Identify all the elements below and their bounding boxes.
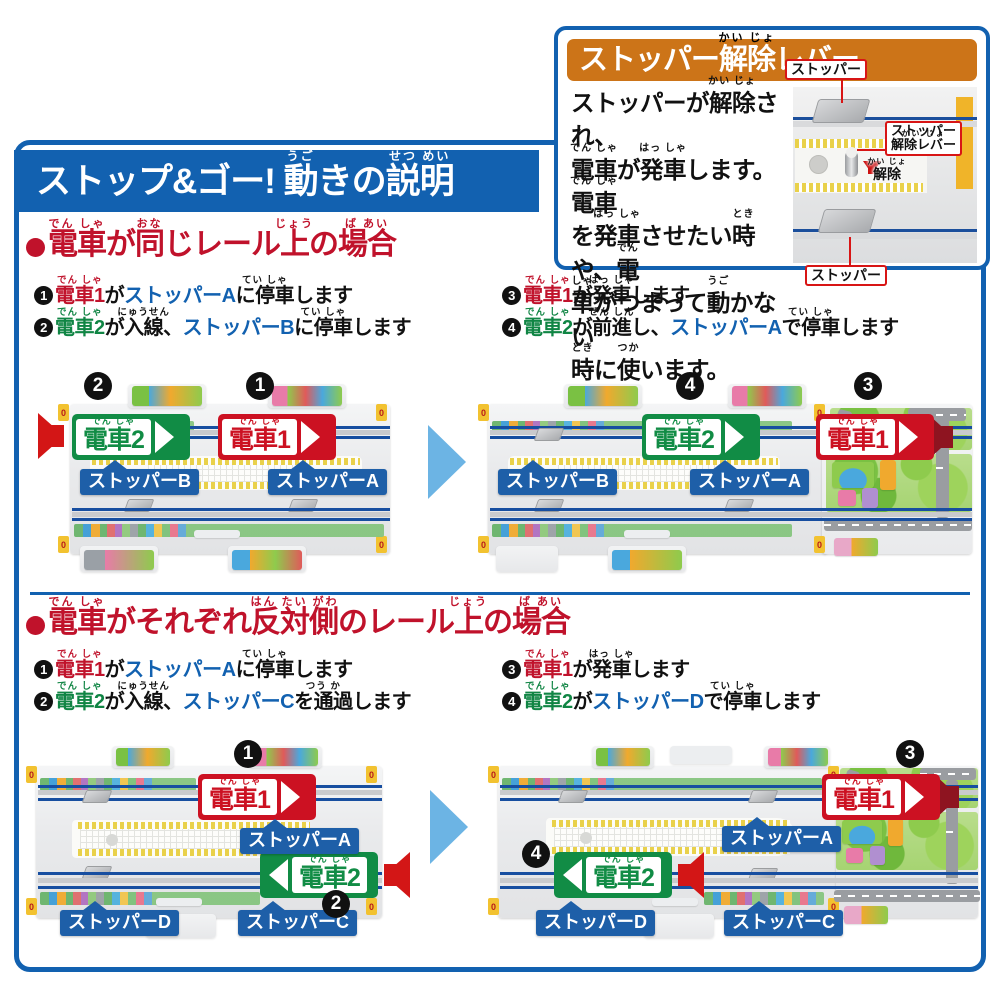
- title-part-stopgo: ストップ&ゴー!: [36, 162, 284, 201]
- train-2-badge: でん しゃ電車2: [260, 852, 378, 898]
- section-1-steps-left: 1でん しゃ電車1がストッパーAてい しゃに停車します 2でん しゃ電車2がにゅ…: [34, 286, 411, 350]
- scenery-card-top-2: [732, 386, 802, 406]
- callout-line-3: をはっ しゃ発車させたいとき時や、でん電: [571, 220, 789, 287]
- board-2-left: 0 0 0 0 1 2 でん しゃ電車1 でん しゃ電車2 ストッパーA ストッ…: [22, 742, 422, 952]
- train-1-badge: でん しゃ電車1: [816, 414, 934, 460]
- scenery-building-2: [838, 490, 856, 506]
- scenery-building-1: [880, 460, 896, 490]
- main-title-banner: ストップ&ゴー! うご動きのせつ めい説明: [14, 150, 539, 212]
- board-marker-1: 1: [234, 740, 262, 768]
- callout-title-ruby-group: かい じょ解除: [719, 46, 775, 75]
- train-direction-arrow-icon: [899, 421, 918, 453]
- scenery-card-top-1: [568, 386, 638, 406]
- step-2-3: 3でん しゃ電車1がはっ しゃ発車します: [502, 660, 821, 680]
- entry-arrow-red: [384, 852, 410, 898]
- callout-line-4: しゃ車がつまってうご動かない: [571, 287, 789, 354]
- callout-description: ストッパーがかい じょ解除され、 でん しゃ電車がはっ しゃ発車します。でん し…: [567, 87, 789, 387]
- stopper-label-D: ストッパーD: [60, 910, 179, 936]
- stopper-lever-photo: かい じょ解除 ストッパー ストッパー かい じょ解除レバー ストッパー: [793, 87, 977, 263]
- photo-label-release-lever: ストッパー かい じょ解除レバー: [885, 121, 962, 156]
- board-marker-2: 2: [322, 890, 350, 918]
- board-tab-bottom-0: [496, 546, 558, 572]
- board-tab-top-mid: [670, 746, 732, 764]
- scenery-building-1: [888, 818, 903, 846]
- train-2-badge: でん しゃ電車2: [642, 414, 760, 460]
- stopper-label-pointer-icon: [82, 901, 108, 911]
- yellow-marker-bl: 0: [488, 898, 499, 915]
- yellow-marker-bl: 0: [58, 536, 69, 553]
- photo-railbed-bottom: [793, 233, 977, 239]
- scenery-bench: [156, 898, 202, 906]
- platform-hole: [106, 834, 118, 846]
- scenery-building-3: [862, 488, 878, 508]
- stopper-label-C: ストッパーC: [724, 910, 843, 936]
- entry-arrow-red: [38, 413, 64, 459]
- yellow-marker-tl: 0: [26, 766, 37, 783]
- section-2-steps-left: 1でん しゃ電車1がストッパーAてい しゃに停車します 2でん しゃ電車2がにゅ…: [34, 660, 411, 724]
- rail-bottom-2: [490, 518, 972, 521]
- step-number-4: 4: [502, 692, 521, 711]
- stopper-label-A: ストッパーA: [240, 828, 359, 854]
- photo-leader-top: [841, 77, 843, 103]
- photo-grid-bottom: [795, 183, 923, 192]
- stopper-hardware-top-2: [748, 790, 779, 803]
- scenery-card-top-2: [768, 748, 828, 766]
- section-2-transition-arrow: [430, 790, 468, 864]
- callout-header: ストッパーかい じょ解除レバー: [567, 39, 977, 81]
- step-number-3: 3: [502, 660, 521, 679]
- scenery-card-bottom-right: [844, 906, 888, 924]
- scenery-stadium: [842, 820, 882, 844]
- photo-leader-bottom: [849, 237, 851, 265]
- board-1-left: 0 0 0 0 2 1 でん しゃ電車2 でん しゃ電車1 ストッパーB ストッ…: [28, 378, 418, 586]
- callout-body: ストッパーがかい じょ解除され、 でん しゃ電車がはっ しゃ発車します。でん し…: [567, 87, 977, 387]
- scenery-stadium: [832, 462, 874, 488]
- stopper-label-A: ストッパーA: [690, 469, 809, 495]
- platform-hole: [580, 832, 592, 844]
- scenery-town-bottom: [40, 892, 260, 905]
- step-number-2: 2: [34, 318, 53, 337]
- stopper-hardware-top: [534, 428, 565, 441]
- step-number-1: 1: [34, 286, 53, 305]
- board-marker-4: 4: [676, 372, 704, 400]
- stopper-label-B: ストッパーB: [498, 469, 617, 495]
- stopper-hardware-top: [82, 790, 113, 803]
- section-2-bullet-icon: [26, 616, 45, 635]
- scenery-card-bottom-2: [232, 550, 302, 570]
- step-train1: でん しゃ電車1: [523, 660, 573, 680]
- step-number-1: 1: [34, 660, 53, 679]
- yellow-marker-bl: 0: [26, 898, 37, 915]
- scenery-card-top-2: [252, 748, 318, 766]
- board-marker-3: 3: [854, 372, 882, 400]
- photo-hole: [809, 155, 828, 174]
- stopper-label-pointer-icon: [102, 460, 128, 470]
- stopper-label-pointer-icon: [262, 819, 288, 829]
- scenery-card-bottom-right: [834, 538, 878, 556]
- photo-leader-lever: [857, 149, 887, 151]
- train-direction-arrow-icon: [269, 859, 288, 891]
- section-1-transition-arrow: [428, 425, 466, 499]
- yellow-marker-br: 0: [366, 898, 377, 915]
- stopper-label-pointer-icon: [260, 901, 286, 911]
- photo-label-stopper-bottom: ストッパー: [805, 265, 887, 286]
- yellow-marker-br: 0: [814, 536, 825, 553]
- step-train2: でん しゃ電車2: [55, 692, 105, 712]
- section-1-heading: でん しゃ電車がおな同じレールじょう上のば あい場合: [26, 230, 396, 260]
- scenery-card-top-1: [596, 748, 650, 766]
- step-number-3: 3: [502, 286, 521, 305]
- board-marker-2: 2: [84, 372, 112, 400]
- title-part-kino: きの: [318, 162, 386, 201]
- step-2-2: 2でん しゃ電車2がにゅうせん入線、ストッパーCつう かを通過します: [34, 692, 411, 712]
- scenery-bench: [652, 898, 698, 906]
- train-1-badge: でん しゃ電車1: [218, 414, 336, 460]
- scenery-card-top-2: [272, 386, 342, 406]
- train-direction-arrow-icon: [281, 781, 300, 813]
- scenery-card-top-1: [116, 748, 170, 766]
- step-2-4: 4でん しゃ電車2がストッパーDてい しゃで停車します: [502, 692, 821, 712]
- step-train2: でん しゃ電車2: [523, 692, 573, 712]
- stopper-label-A: ストッパーA: [722, 826, 841, 852]
- railbed-bottom: [72, 512, 390, 517]
- photo-release-lever: [845, 151, 858, 177]
- step-number-4: 4: [502, 318, 521, 337]
- section-2-steps-right: 3でん しゃ電車1がはっ しゃ発車します 4でん しゃ電車2がストッパーDてい …: [502, 660, 821, 724]
- train-direction-arrow-icon: [725, 421, 744, 453]
- train-1-badge: でん しゃ電車1: [198, 774, 316, 820]
- step-train1: でん しゃ電車1: [523, 286, 573, 306]
- step-2-1: 1でん しゃ電車1がストッパーAてい しゃに停車します: [34, 660, 411, 680]
- step-train1: でん しゃ電車1: [55, 286, 105, 306]
- scenery-card-bottom-1: [612, 550, 682, 570]
- board-1-right: 0 0 0 0 4 3 でん しゃ電車2 でん しゃ電車1 ストッパーB スト: [478, 378, 978, 586]
- stopper-label-pointer-icon: [520, 460, 546, 470]
- yellow-marker-tr: 0: [376, 404, 387, 421]
- yellow-marker-br: 0: [376, 536, 387, 553]
- stopper-label-pointer-icon: [558, 901, 584, 911]
- title-ruby-setsumei-group: せつ めい説明: [386, 164, 454, 199]
- step-train2: でん しゃ電車2: [523, 318, 573, 338]
- rail-bottom-1: [490, 508, 972, 511]
- train-2-badge: でん しゃ電車2: [72, 414, 190, 460]
- stopper-label-pointer-icon: [712, 460, 738, 470]
- scenery-card-bottom-1: [84, 550, 154, 570]
- main-title-text: ストップ&ゴー! うご動きのせつ めい説明: [36, 164, 454, 199]
- photo-label-stopper-top: ストッパー: [785, 59, 867, 80]
- step-1-2: 2でん しゃ電車2がにゅうせん入線、ストッパーBてい しゃに停車します: [34, 318, 411, 338]
- rail-bottom-1: [72, 508, 390, 511]
- board-marker-3: 3: [896, 740, 924, 768]
- scenery-building-2: [846, 848, 863, 863]
- train-direction-arrow-icon: [905, 781, 924, 813]
- yellow-marker-tl: 0: [488, 766, 499, 783]
- railbed-bottom: [490, 512, 972, 517]
- step-number-2: 2: [34, 692, 53, 711]
- section-divider: [30, 592, 970, 595]
- yellow-marker-tr: 0: [366, 766, 377, 783]
- stopper-label-A: ストッパーA: [268, 469, 387, 495]
- board-marker-1: 1: [246, 372, 274, 400]
- scenery-road-3: [834, 890, 980, 902]
- stopper-label-pointer-icon: [744, 817, 770, 827]
- train-direction-arrow-icon: [563, 859, 582, 891]
- photo-stopper-bottom: [818, 209, 877, 233]
- scenery-bench: [194, 530, 240, 538]
- step-1-1: 1でん しゃ電車1がストッパーAてい しゃに停車します: [34, 286, 411, 306]
- scenery-building-3: [870, 846, 885, 865]
- stopper-label-pointer-icon: [290, 460, 316, 470]
- stopper-label-B: ストッパーB: [80, 469, 199, 495]
- section-1-bullet-icon: [26, 238, 45, 257]
- section-2-heading: でん しゃ電車がそれぞれはん たい がわ反対側のレールじょう上のば あい場合: [26, 608, 570, 638]
- board-2-right: 0 0 0 0 3 4 でん しゃ電車1 でん しゃ電車2 ストッパーA: [484, 742, 984, 952]
- step-train1: でん しゃ電車1: [55, 660, 105, 680]
- yellow-marker-bl: 0: [478, 536, 489, 553]
- scenery-card-top-1: [132, 386, 202, 406]
- stopper-release-lever-callout: ストッパーかい じょ解除レバー ストッパーがかい じょ解除され、 でん しゃ電車…: [554, 26, 990, 270]
- yellow-marker-tl: 0: [478, 404, 489, 421]
- train-1-badge: でん しゃ電車1: [822, 774, 940, 820]
- step-train2: でん しゃ電車2: [55, 318, 105, 338]
- train-direction-arrow-icon: [301, 421, 320, 453]
- rail-bottom-2: [72, 518, 390, 521]
- stopper-label-D: ストッパーD: [536, 910, 655, 936]
- photo-release-text: かい じょ解除: [873, 167, 901, 181]
- board-marker-4: 4: [522, 840, 550, 868]
- scenery-bench: [624, 530, 670, 538]
- title-ruby-ugo-group: うご動: [284, 164, 318, 199]
- train-2-badge: でん しゃ電車2: [554, 852, 672, 898]
- stopper-label-pointer-icon: [746, 901, 772, 911]
- stopper-hardware-top-1: [558, 790, 589, 803]
- move-arrow-red: [678, 852, 704, 898]
- train-direction-arrow-icon: [155, 421, 174, 453]
